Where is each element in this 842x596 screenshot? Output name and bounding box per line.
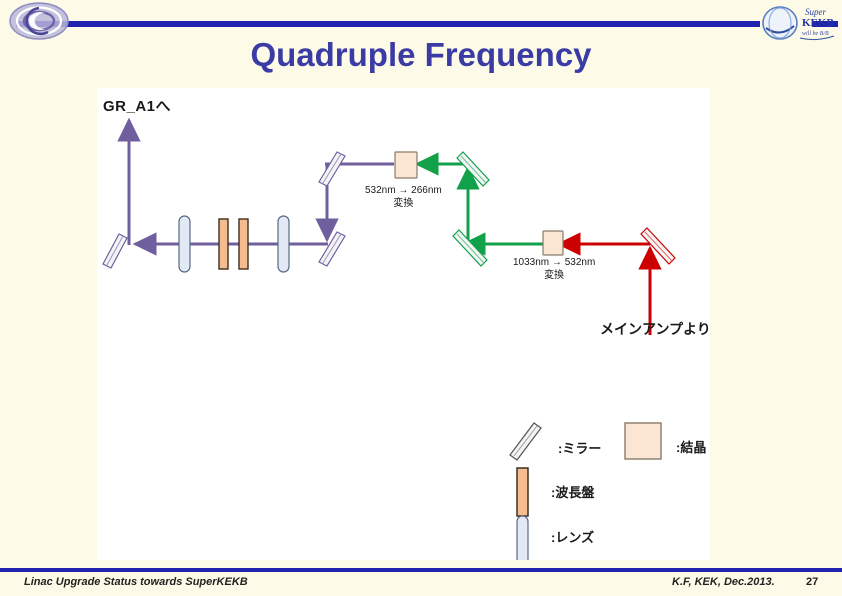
mirror-green-upper [457,152,489,186]
beam-path-266nm-uv [129,120,394,245]
conversion-266nm-line1: 532nm → 266nm [365,184,442,197]
legend-lens-icon [517,516,528,560]
lens-1 [179,216,190,272]
footer-presentation-title: Linac Upgrade Status towards SuperKEKB [24,576,248,588]
slide-root: Super KEKB will be B/B Quadruple Frequen… [0,0,842,596]
output-port-label: GR_A1へ [103,95,171,116]
logo-kekb-text: KEKB [802,17,834,29]
legend-item-waveplate: :波長盤 [551,482,594,501]
source-port-label: メインアンプより [600,319,711,339]
legend-waveplate-icon [517,468,528,516]
mirror-uv-upper [319,152,345,186]
conversion-532nm-line1: 1033nm → 532nm [513,256,595,269]
legend-item-crystal: :結晶 [676,437,706,456]
footer-page-number: 27 [806,576,818,588]
conversion-532nm-label: 1033nm → 532nm 変換 [513,256,595,282]
mirror-output [103,234,127,268]
footer-attribution: K.F, KEK, Dec.2013. [672,576,775,588]
waveplate-2 [239,219,248,269]
mirror-green-lower [453,230,487,266]
crystal-266nm [395,152,417,178]
logo-super-text: Super [805,7,826,17]
mirror-uv-lower [319,232,345,266]
legend-crystal-icon [625,423,661,459]
page-title: Quadruple Frequency [0,36,842,74]
legend-mirror-icon [510,423,541,460]
lens-2 [278,216,289,272]
conversion-266nm-line2: 変換 [365,197,442,210]
conversion-532nm-line2: 変換 [513,269,595,282]
waveplate-1 [219,219,228,269]
conversion-266nm-label: 532nm → 266nm 変換 [365,184,442,210]
legend-item-mirror: :ミラー [558,438,601,457]
footer-rule [0,568,842,572]
header-rule-left [16,21,760,27]
crystal-532nm [543,231,563,255]
legend-item-lens: :レンズ [551,527,594,546]
mirror-red-input [641,228,675,264]
